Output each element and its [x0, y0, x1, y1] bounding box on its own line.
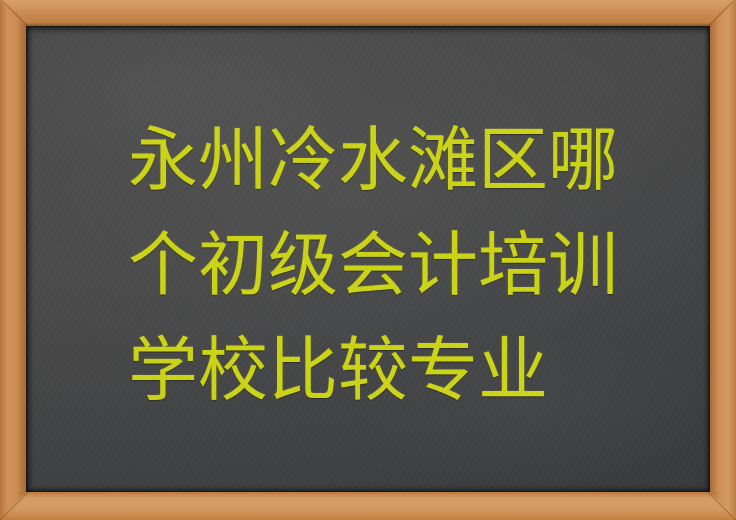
- frame-rail-right: [710, 0, 736, 520]
- frame-rail-left: [0, 0, 26, 520]
- framed-chalkboard-scene: 永州冷水滩区哪个初级会计培训学校比较专业: [0, 0, 736, 520]
- frame-rail-bottom: [0, 492, 736, 520]
- frame-rail-top: [0, 0, 736, 26]
- chalkboard-surface: 永州冷水滩区哪个初级会计培训学校比较专业: [26, 26, 710, 492]
- chalkboard-headline: 永州冷水滩区哪个初级会计培训学校比较专业: [128, 108, 648, 423]
